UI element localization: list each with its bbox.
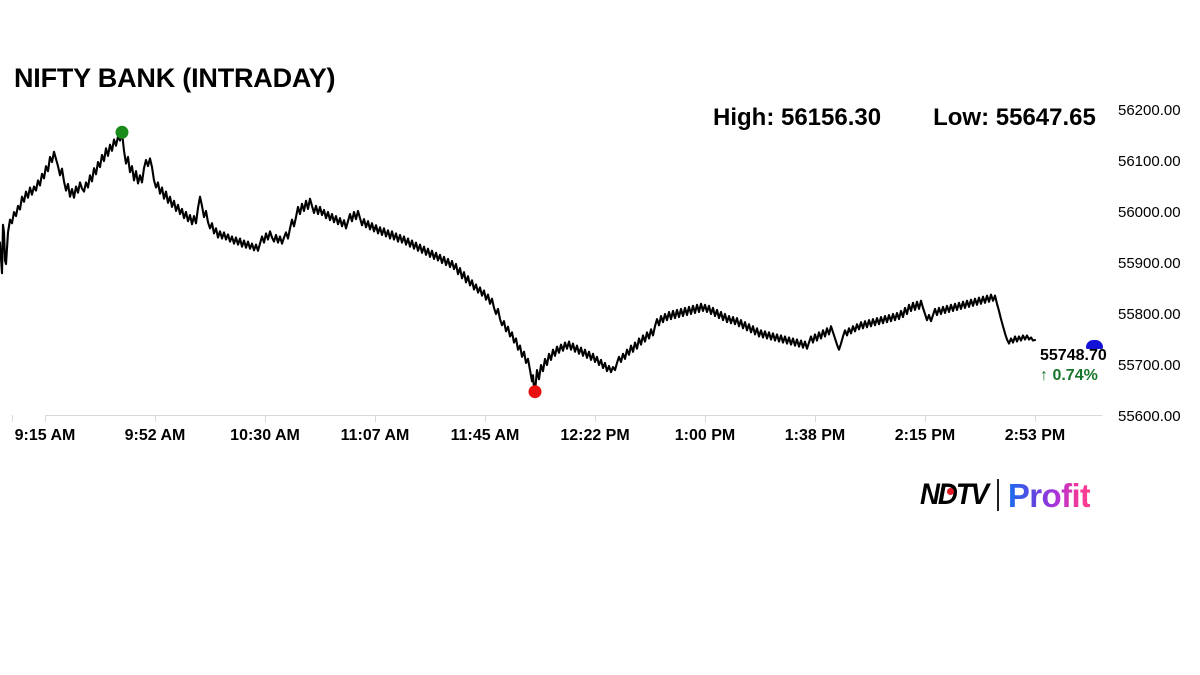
x-axis-tickmark	[925, 415, 926, 422]
x-axis-tick-label: 9:52 AM	[125, 427, 186, 445]
y-axis-tick-label: 56200.00	[1118, 103, 1181, 118]
x-axis-tickmark	[375, 415, 376, 422]
x-axis-tickmark	[485, 415, 486, 422]
x-axis-tickmark	[815, 415, 816, 422]
logo-divider	[997, 479, 999, 511]
x-axis-tickmark	[265, 415, 266, 422]
x-axis-tickmarks	[0, 415, 1110, 422]
last-price-callout: 55748.70 ↑ 0.74%	[1040, 348, 1150, 384]
x-axis-tick-label: 2:15 PM	[895, 427, 955, 445]
ndtv-profit-logo: NDTV Profit	[920, 475, 1090, 515]
y-axis-tick-label: 55800.00	[1118, 307, 1181, 322]
x-axis-tick-label: 12:22 PM	[560, 427, 629, 445]
x-axis-tick-label: 11:07 AM	[341, 427, 410, 445]
x-axis-tickmark	[705, 415, 706, 422]
x-axis-tick-label: 2:53 PM	[1005, 427, 1065, 445]
x-axis-tick-label: 1:00 PM	[675, 427, 735, 445]
price-line-chart	[0, 110, 1110, 416]
x-axis-origin-tickmark	[12, 415, 13, 422]
chart-screenshot: NIFTY BANK (INTRADAY) High: 56156.30 Low…	[0, 0, 1200, 675]
x-axis-tickmark	[1035, 415, 1036, 422]
y-axis-tick-label: 56100.00	[1118, 154, 1181, 169]
y-axis-tick-label: 55900.00	[1118, 256, 1181, 271]
x-axis-tick-label: 11:45 AM	[451, 427, 520, 445]
x-axis-tick-label: 1:38 PM	[785, 427, 845, 445]
price-line-path	[0, 132, 1035, 391]
x-axis-tickmark	[45, 415, 46, 422]
x-axis-tick-label: 9:15 AM	[15, 427, 76, 445]
ndtv-wordmark: NDTV	[920, 480, 987, 510]
ndtv-red-dot-icon	[947, 488, 954, 495]
page-title: NIFTY BANK (INTRADAY)	[14, 63, 335, 94]
y-axis-tick-label: 55600.00	[1118, 409, 1181, 424]
profit-wordmark: Profit	[1008, 479, 1091, 512]
x-axis-labels: 9:15 AM9:52 AM10:30 AM11:07 AM11:45 AM12…	[0, 427, 1110, 451]
last-price-change: ↑ 0.74%	[1040, 367, 1150, 385]
plot-area	[0, 110, 1110, 416]
x-axis-tickmark	[155, 415, 156, 422]
y-axis-tick-label: 56000.00	[1118, 205, 1181, 220]
high-marker-dot	[116, 126, 129, 139]
last-price-value: 55748.70	[1040, 348, 1150, 365]
low-marker-dot	[529, 385, 542, 398]
x-axis-tickmark	[595, 415, 596, 422]
x-axis-tick-label: 10:30 AM	[230, 427, 300, 445]
